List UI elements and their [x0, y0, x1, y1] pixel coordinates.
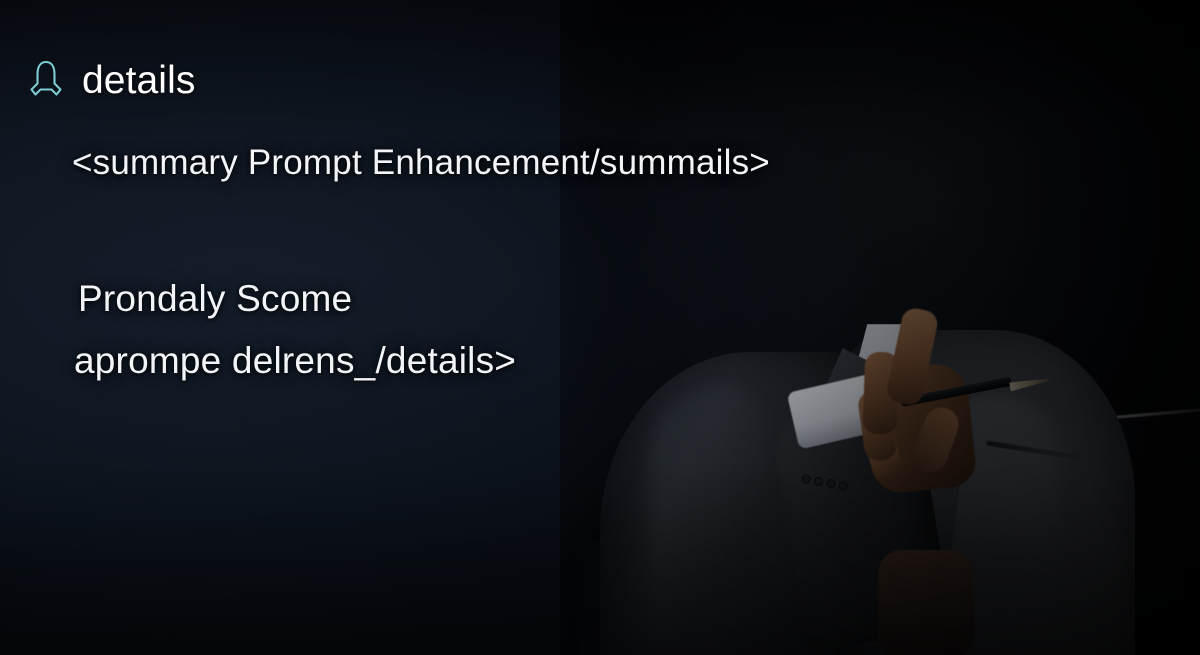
content-line-a: Prondaly Scome [78, 278, 352, 320]
content-line-b: aprompe delrens_/details> [74, 340, 516, 382]
screenshot-canvas: details <summary Prompt Enhancement/summ… [0, 0, 1200, 655]
page-title: details [82, 61, 195, 100]
header-row: details [26, 58, 195, 102]
person-icon [26, 58, 66, 102]
summary-tag-line: <summary Prompt Enhancement/summails> [72, 143, 770, 183]
text-overlay: details <summary Prompt Enhancement/summ… [0, 0, 1200, 655]
